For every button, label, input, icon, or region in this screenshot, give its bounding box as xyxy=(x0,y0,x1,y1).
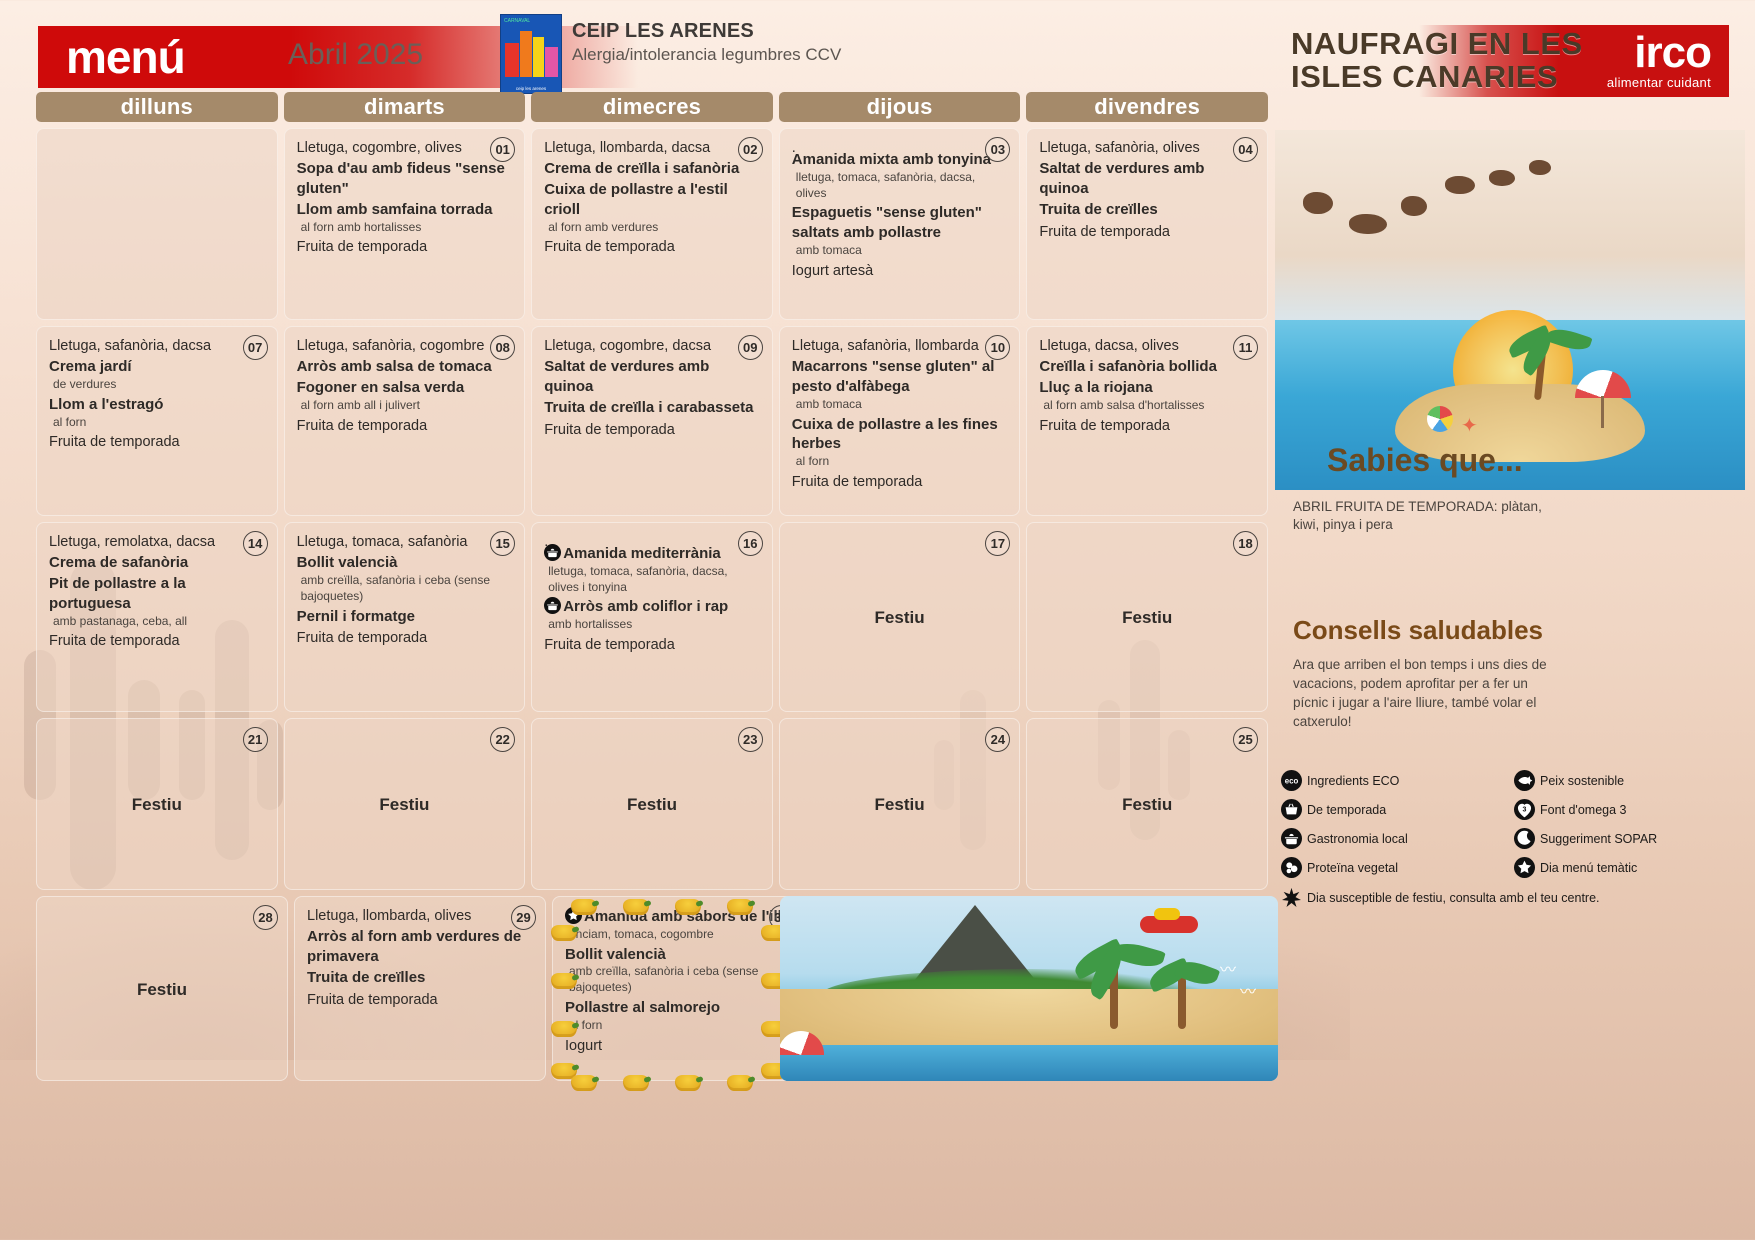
menu-dessert: Fruita de temporada xyxy=(297,417,513,436)
day-number: 14 xyxy=(243,531,268,556)
menu-dish: Espaguetis "sense gluten" saltats amb po… xyxy=(792,203,1008,243)
menu-dish: Pernil i formatge xyxy=(297,607,513,627)
day-number: 07 xyxy=(243,335,268,360)
menu-dessert: Fruita de temporada xyxy=(297,629,513,648)
menu-salad: Lletuga, safanòria, olives xyxy=(1039,139,1255,158)
thematic-day-icon xyxy=(1514,857,1535,878)
legend-label: De temporada xyxy=(1307,803,1386,817)
legend-item: Proteïna vegetal xyxy=(1281,857,1510,878)
menu-dish-note: al forn amb salsa d'hortalisses xyxy=(1039,398,1255,414)
fish-sustainable-icon xyxy=(1514,770,1535,791)
menu-dish: Arròs amb salsa de tomaca xyxy=(297,357,513,377)
menu-dish-note: amb creïlla, safanòria i ceba (sense baj… xyxy=(565,964,791,996)
menu-dish-note: al forn xyxy=(565,1018,791,1034)
menu-dessert: Fruita de temporada xyxy=(297,238,513,257)
menu-cell-day-22: 22Festiu xyxy=(284,718,526,890)
day-number: 02 xyxy=(738,137,763,162)
menu-cell-day-23: 23Festiu xyxy=(531,718,773,890)
menu-dessert: Fruita de temporada xyxy=(307,991,533,1010)
menu-cell-day-08: 08Lletuga, safanòria, cogombreArròs amb … xyxy=(284,326,526,516)
day-header-dilluns: dilluns xyxy=(36,92,278,122)
menu-month: Abril 2025 xyxy=(288,38,423,72)
menu-title: menú xyxy=(38,34,185,80)
legend-label: Proteïna vegetal xyxy=(1307,861,1398,875)
menu-cell-day-01: 01Lletuga, cogombre, olivesSopa d'au amb… xyxy=(284,128,526,320)
menu-dessert: Fruita de temporada xyxy=(544,636,760,655)
day-header-row: dillunsdimartsdimecresdijousdivendres xyxy=(36,92,1268,122)
festiu-label: Festiu xyxy=(297,729,513,881)
local-gastronomy-icon xyxy=(544,544,561,561)
festiu-label: Festiu xyxy=(1039,533,1255,703)
day-header-dijous: dijous xyxy=(779,92,1021,122)
menu-dish: Macarrons "sense gluten" al pesto d'alfà… xyxy=(792,357,1008,397)
menu-dish-note: amb tomaca xyxy=(792,397,1008,413)
menu-dish: Saltat de verdures amb quinoa xyxy=(544,357,760,397)
legend-item: Gastronomia local xyxy=(1281,828,1510,849)
day-number: 18 xyxy=(1233,531,1258,556)
legend-label: Suggeriment SOPAR xyxy=(1540,832,1657,846)
svg-text:eco: eco xyxy=(1285,777,1299,786)
legend-footer-item: Dia susceptible de festiu, consulta amb … xyxy=(1281,887,1743,908)
menu-dish: Truita de creïlles xyxy=(307,968,533,988)
menu-cell-day-11: 11Lletuga, dacsa, olivesCreïlla i safanò… xyxy=(1026,326,1268,516)
menu-cell-day-21: 21Festiu xyxy=(36,718,278,890)
school-name: CEIP LES ARENES xyxy=(572,20,754,43)
menu-dish: Cuixa de pollastre a l'estil crioll xyxy=(544,180,760,220)
menu-dish: Amanida mediterrània xyxy=(544,544,760,564)
menu-cell-day-15: 15Lletuga, tomaca, safanòriaBollit valen… xyxy=(284,522,526,712)
dinner-suggestion-icon xyxy=(1514,828,1535,849)
island-scene: 〰〰 xyxy=(780,896,1278,1081)
day-number: 04 xyxy=(1233,137,1258,162)
week-row: 28Festiu29Lletuga, llombarda, olivesArrò… xyxy=(36,896,1268,1081)
menu-dish-note: amb tomaca xyxy=(792,243,1008,259)
menu-salad: Lletuga, safanòria, dacsa xyxy=(49,337,265,356)
menu-dish-label: Amanida mediterrània xyxy=(563,544,721,564)
menu-dessert: Fruita de temporada xyxy=(544,421,760,440)
day-header-dimecres: dimecres xyxy=(531,92,773,122)
menu-cell-day-17: 17Festiu xyxy=(779,522,1021,712)
menu-salad: . xyxy=(792,139,1008,149)
menu-dish-note: al forn amb verdures xyxy=(544,220,760,236)
menu-dish: Truita de creïlles xyxy=(1039,200,1255,220)
legend-label: Ingredients ECO xyxy=(1307,774,1399,788)
day-number: 28 xyxy=(253,905,278,930)
menu-dish: Bollit valencià xyxy=(565,945,791,965)
eco-icon: eco xyxy=(1281,770,1302,791)
festiu-label: Festiu xyxy=(792,729,1008,881)
menu-salad: Lletuga, tomaca, safanòria xyxy=(297,533,513,552)
menu-dish-note: al forn amb hortalisses xyxy=(297,220,513,236)
week-row: 01Lletuga, cogombre, olivesSopa d'au amb… xyxy=(36,128,1268,320)
starfish-icon: ✦ xyxy=(1461,413,1478,438)
menu-cell-day-14: 14Lletuga, remolatxa, dacsaCrema de safa… xyxy=(36,522,278,712)
menu-dessert: Fruita de temporada xyxy=(544,238,760,257)
menu-cell-day-03: 03.Amanida mixta amb tonyinalletuga, tom… xyxy=(779,128,1021,320)
legend-label: Peix sostenible xyxy=(1540,774,1624,788)
menu-cell-day-07: 07Lletuga, safanòria, dacsaCrema jardíde… xyxy=(36,326,278,516)
day-number: 11 xyxy=(1233,335,1258,360)
menu-dish: Amanida mixta amb tonyina xyxy=(792,150,1008,170)
legend-item: Dia menú temàtic xyxy=(1514,857,1743,878)
menu-dish: Cuixa de pollastre a les fines herbes xyxy=(792,415,1008,455)
menu-salad: Lletuga, llombarda, dacsa xyxy=(544,139,760,158)
week-row: 21Festiu22Festiu23Festiu24Festiu25Festiu xyxy=(36,718,1268,890)
menu-dish-note: de verdures xyxy=(49,377,265,393)
menu-dish: Creïlla i safanòria bollida xyxy=(1039,357,1255,377)
menu-cell-day-30: 30Amanida amb sabors de l'illaenciam, to… xyxy=(552,896,804,1081)
menu-dish: Llom amb samfaina torrada xyxy=(297,200,513,220)
bottom-island-illustration: 〰〰 xyxy=(1042,896,1268,1081)
airplane-icon xyxy=(1132,908,1202,942)
menu-dessert: Fruita de temporada xyxy=(792,473,1008,492)
menu-dish: Lluç a la riojana xyxy=(1039,378,1255,398)
menu-salad: Lletuga, remolatxa, dacsa xyxy=(49,533,265,552)
seasonal-icon xyxy=(1281,799,1302,820)
menu-dish-note: al forn xyxy=(49,415,265,431)
menu-cell-day-24: 24Festiu xyxy=(779,718,1021,890)
legend-footer-label: Dia susceptible de festiu, consulta amb … xyxy=(1307,891,1600,905)
menu-salad: Lletuga, cogombre, dacsa xyxy=(544,337,760,356)
festiu-label: Festiu xyxy=(544,729,760,881)
menu-dessert: Iogurt xyxy=(565,1037,791,1056)
menu-dish: Arròs amb coliflor i rap xyxy=(544,597,760,617)
omega3-icon: 3 xyxy=(1514,799,1535,820)
menu-cell-empty xyxy=(36,128,278,320)
menu-cell-day-28: 28Festiu xyxy=(36,896,288,1081)
day-number: 23 xyxy=(738,727,763,752)
menu-dessert: Fruita de temporada xyxy=(49,632,265,651)
menu-salad: Lletuga, safanòria, cogombre xyxy=(297,337,513,356)
menu-dish: Amanida amb sabors de l'illa xyxy=(565,907,791,927)
legend-item: De temporada xyxy=(1281,799,1510,820)
menu-dish: Llom a l'estragó xyxy=(49,395,265,415)
seagull-icon: 〰 xyxy=(1220,956,1236,980)
festiu-label: Festiu xyxy=(49,729,265,881)
sidebar-theme-title: NAUFRAGI EN LES ISLES CANARIES xyxy=(1291,28,1731,93)
legend-label: Dia menú temàtic xyxy=(1540,861,1637,875)
seasonal-fruit-note: ABRIL FRUITA DE TEMPORADA: plàtan, kiwi,… xyxy=(1293,498,1563,534)
menu-cell-day-09: 09Lletuga, cogombre, dacsaSaltat de verd… xyxy=(531,326,773,516)
menu-dish-note: enciam, tomaca, cogombre xyxy=(565,927,791,943)
sabies-que-heading: Sabies que... xyxy=(1327,442,1523,479)
menu-dessert: Fruita de temporada xyxy=(1039,417,1255,436)
legend-item: Peix sostenible xyxy=(1514,770,1743,791)
school-logo: CARNAVAL ceip les arenes xyxy=(500,14,562,94)
menu-salad: . xyxy=(544,533,760,543)
menu-salad: Lletuga, safanòria, llombarda xyxy=(792,337,1008,356)
menu-dish: Crema de safanòria xyxy=(49,553,265,573)
festiu-label: Festiu xyxy=(792,533,1008,703)
local-gastronomy-icon xyxy=(1281,828,1302,849)
menu-salad: Lletuga, cogombre, olives xyxy=(297,139,513,158)
menu-dish-note: amb creïlla, safanòria i ceba (sense baj… xyxy=(297,573,513,605)
legend-item: 3Font d'omega 3 xyxy=(1514,799,1743,820)
week-row: 14Lletuga, remolatxa, dacsaCrema de safa… xyxy=(36,522,1268,712)
menu-dish: Saltat de verdures amb quinoa xyxy=(1039,159,1255,199)
menu-dish: Fogoner en salsa verda xyxy=(297,378,513,398)
menu-dish: Crema jardí xyxy=(49,357,265,377)
menu-dish-label: Arròs amb coliflor i rap xyxy=(563,597,728,617)
menu-dish: Bollit valencià xyxy=(297,553,513,573)
day-number: 29 xyxy=(511,905,536,930)
legend-item: ecoIngredients ECO xyxy=(1281,770,1510,791)
sidebar-theme-title-line2: ISLES CANARIES xyxy=(1291,61,1731,94)
school-logo-top-text: CARNAVAL xyxy=(504,18,530,24)
menu-dish-note: al forn amb all i julivert xyxy=(297,398,513,414)
school-allergy-note: Alergia/intolerancia legumbres CCV xyxy=(572,45,841,65)
asterisk-icon xyxy=(1281,887,1302,908)
menu-dish: Arròs al forn amb verdures de primavera xyxy=(307,927,533,967)
sidebar-island-illustration: ✦ xyxy=(1275,130,1745,490)
day-number: 16 xyxy=(738,531,763,556)
menu-dessert: Fruita de temporada xyxy=(49,433,265,452)
menu-dish: Crema de creïlla i safanòria xyxy=(544,159,760,179)
menu-calendar: dillunsdimartsdimecresdijousdivendres 01… xyxy=(36,92,1268,1081)
healthy-tips-text: Ara que arriben el bon temps i uns dies … xyxy=(1293,655,1565,732)
menu-dessert: Fruita de temporada xyxy=(1039,223,1255,242)
menu-cell-day-10: 10Lletuga, safanòria, llombardaMacarrons… xyxy=(779,326,1021,516)
legend: ecoIngredients ECOPeix sostenibleDe temp… xyxy=(1281,770,1743,908)
menu-salad: Lletuga, llombarda, olives xyxy=(307,907,533,926)
menu-dish: Truita de creïlla i carabasseta xyxy=(544,398,760,418)
menu-dish: Pollastre al salmorejo xyxy=(565,998,791,1018)
menu-dish-note: al forn xyxy=(792,454,1008,470)
legend-label: Gastronomia local xyxy=(1307,832,1408,846)
menu-cell-day-25: 25Festiu xyxy=(1026,718,1268,890)
legend-item: Suggeriment SOPAR xyxy=(1514,828,1743,849)
festiu-label: Festiu xyxy=(49,907,275,1072)
menu-dish-note: amb pastanaga, ceba, all xyxy=(49,614,265,630)
vegetal-protein-icon xyxy=(1281,857,1302,878)
menu-dish-label: Amanida amb sabors de l'illa xyxy=(584,907,790,927)
healthy-tips-heading: Consells saludables xyxy=(1293,615,1543,646)
seagull-icon: 〰 xyxy=(1240,978,1256,1002)
menu-dish-note: amb hortalisses xyxy=(544,617,760,633)
festiu-label: Festiu xyxy=(1039,729,1255,881)
menu-dessert: Iogurt artesà xyxy=(792,262,1008,281)
menu-dish-note: lletuga, tomaca, safanòria, dacsa, olive… xyxy=(792,170,1008,202)
menu-cell-day-04: 04Lletuga, safanòria, olivesSaltat de ve… xyxy=(1026,128,1268,320)
day-number: 21 xyxy=(243,727,268,752)
day-header-divendres: divendres xyxy=(1026,92,1268,122)
menu-dish-note: lletuga, tomaca, safanòria, dacsa, olive… xyxy=(544,564,760,596)
menu-cell-day-16: 16.Amanida mediterrànialletuga, tomaca, … xyxy=(531,522,773,712)
sidebar-theme-title-line1: NAUFRAGI EN LES xyxy=(1291,28,1731,61)
svg-text:3: 3 xyxy=(1523,806,1527,813)
menu-cell-day-02: 02Lletuga, llombarda, dacsaCrema de creï… xyxy=(531,128,773,320)
menu-salad: Lletuga, dacsa, olives xyxy=(1039,337,1255,356)
day-number: 09 xyxy=(738,335,763,360)
sidebar: NAUFRAGI EN LES ISLES CANARIES ✦ Sabies … xyxy=(1275,10,1745,1232)
thematic-day-icon xyxy=(565,907,582,924)
legend-label: Font d'omega 3 xyxy=(1540,803,1626,817)
day-number: 25 xyxy=(1233,727,1258,752)
menu-cell-day-18: 18Festiu xyxy=(1026,522,1268,712)
menu-cell-day-29: 29Lletuga, llombarda, olivesArròs al for… xyxy=(294,896,546,1081)
week-row: 07Lletuga, safanòria, dacsaCrema jardíde… xyxy=(36,326,1268,516)
menu-dish: Pit de pollastre a la portuguesa xyxy=(49,574,265,614)
local-gastronomy-icon xyxy=(544,597,561,614)
day-header-dimarts: dimarts xyxy=(284,92,526,122)
menu-dish: Sopa d'au amb fideus "sense gluten" xyxy=(297,159,513,199)
